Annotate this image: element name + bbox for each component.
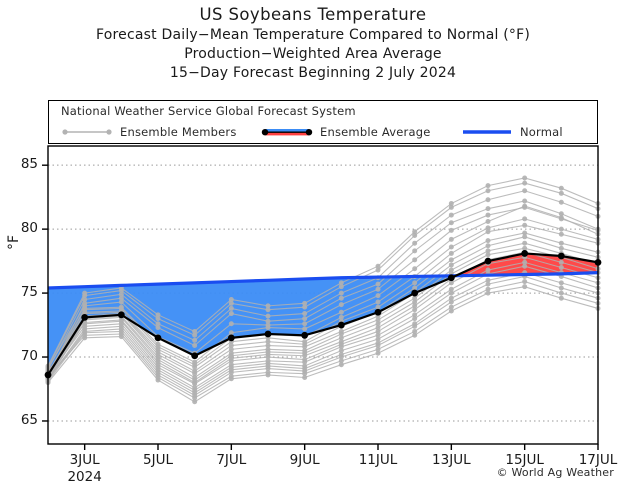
x-tick-label: 5JUL [118,452,198,468]
x-tick-label: 7JUL [191,452,271,468]
plot-canvas [0,0,626,483]
x-tick-label: 11JUL [338,452,418,468]
legend-item-ensemble-average[interactable]: Ensemble Average [261,121,430,143]
ensemble-members-swatch-icon [61,125,113,139]
y-tick-label: 70 [4,348,38,364]
y-tick-label: 65 [4,412,38,428]
legend-item-ensemble-members[interactable]: Ensemble Members [61,121,237,143]
chart-figure: US Soybeans Temperature Forecast Daily−M… [0,0,626,483]
copyright-notice: © World Ag Weather [497,466,614,479]
chart-legend: National Weather Service Global Forecast… [48,100,598,144]
legend-source-label: National Weather Service Global Forecast… [61,104,356,118]
normal-swatch-icon [461,125,513,139]
y-tick-label: 80 [4,220,38,236]
legend-items-row: Ensemble Members Ensemble Average [49,121,599,143]
legend-item-normal[interactable]: Normal [461,121,563,143]
legend-item-label-ensemble-average: Ensemble Average [320,125,430,139]
y-tick-label: 75 [4,284,38,300]
ensemble-average-swatch-icon [261,125,313,139]
y-tick-label: 85 [4,156,38,172]
legend-item-label-normal: Normal [520,125,563,139]
legend-item-label-ensemble-members: Ensemble Members [120,125,237,139]
x-tick-label: 13JUL [411,452,491,468]
x-tick-label: 3JUL [45,452,125,468]
x-tick-label: 9JUL [265,452,345,468]
